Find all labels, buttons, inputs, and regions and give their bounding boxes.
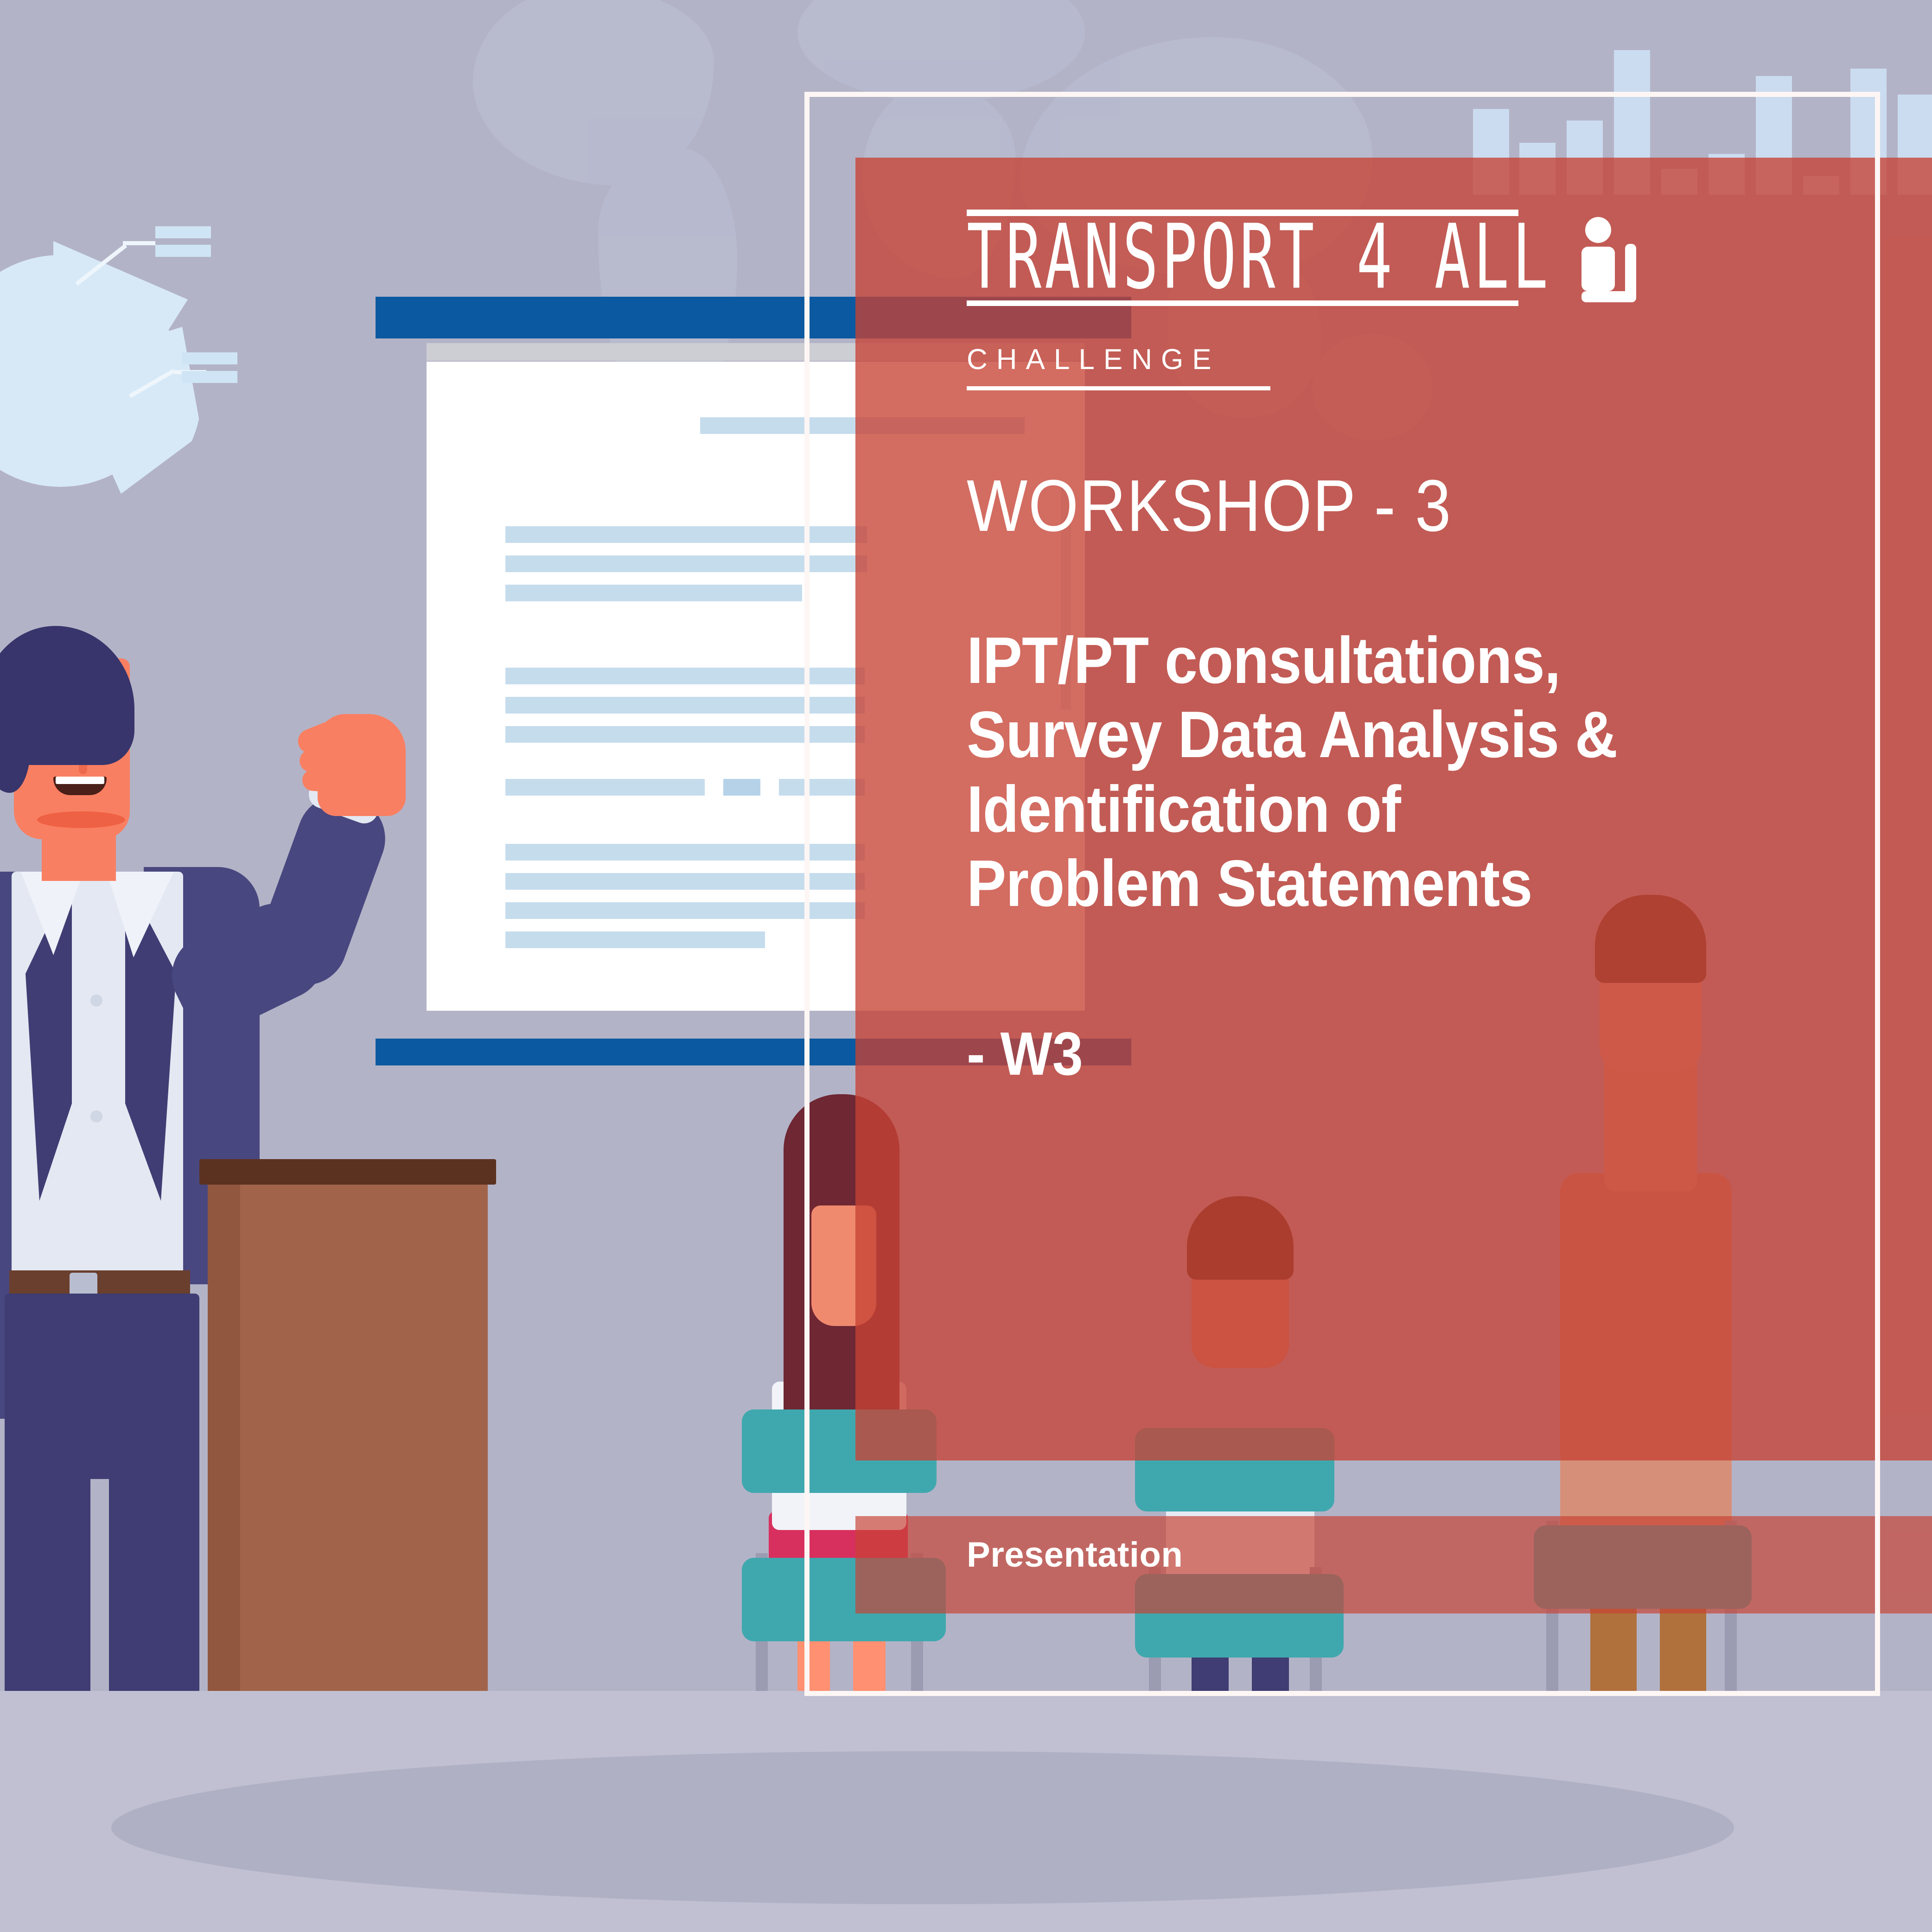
poster-canvas: TRANSPORT 4 ALL CHALLENGE WORKSHOP - 3 I… <box>0 0 1932 1932</box>
logo-wordmark: TRANSPORT 4 ALL <box>967 213 1551 302</box>
belt-buckle <box>70 1273 97 1296</box>
shirt-button <box>90 1110 102 1122</box>
finger <box>302 769 354 794</box>
logo-bottom-rule <box>967 300 1518 306</box>
lectern-top <box>199 1159 496 1185</box>
challenge-subtitle: CHALLENGE <box>967 343 1848 376</box>
title-line: Identification of <box>967 772 1760 847</box>
workshop-label: WORKSHOP - 3 <box>967 469 1742 542</box>
title-line: Survey Data Analysis & <box>967 698 1760 772</box>
challenge-underline <box>967 386 1270 390</box>
poster-content: TRANSPORT 4 ALL CHALLENGE WORKSHOP - 3 I… <box>967 213 1848 1084</box>
shirt-button <box>90 995 102 1007</box>
decorative-pie-chart <box>0 218 260 515</box>
hair <box>0 626 134 765</box>
poster-title: IPT/PT consultations, Survey Data Analys… <box>967 624 1760 921</box>
workshop-code: - W3 <box>967 1023 1760 1084</box>
floor-shadow <box>111 1751 1734 1904</box>
content-type-label: Presentation <box>967 1535 1183 1575</box>
teeth <box>56 777 104 784</box>
person-in-seat-icon <box>1569 217 1648 307</box>
title-line: Problem Statements <box>967 847 1760 921</box>
chin-shadow <box>37 811 125 828</box>
transport4all-logo: TRANSPORT 4 ALL <box>967 213 1848 320</box>
title-line: IPT/PT consultations, <box>967 624 1760 698</box>
